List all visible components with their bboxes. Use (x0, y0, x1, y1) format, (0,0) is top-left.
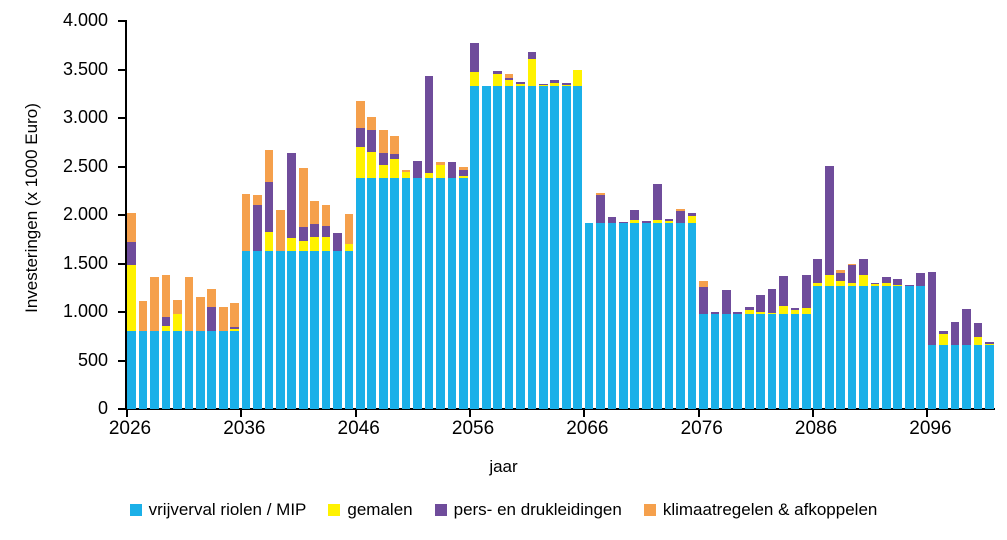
bar-2047 (367, 117, 376, 409)
bar-segment-vrijverval (207, 331, 216, 409)
bar-segment-vrijverval (550, 86, 559, 409)
x-tick-label: 2066 (566, 418, 608, 440)
bar-segment-vrijverval (196, 331, 205, 409)
bar-segment-klimaat (379, 130, 388, 153)
bar-segment-persleidingen (528, 52, 537, 59)
bar-segment-gemalen (367, 152, 376, 178)
bar-2067 (596, 193, 605, 409)
bar-segment-persleidingen (699, 287, 708, 314)
bar-2026 (127, 213, 136, 409)
bar-segment-persleidingen (299, 227, 308, 242)
bar-segment-vrijverval (322, 251, 331, 409)
bar-segment-vrijverval (596, 223, 605, 409)
bar-2042 (310, 201, 319, 409)
bar-segment-vrijverval (139, 331, 148, 409)
bar-segment-persleidingen (836, 273, 845, 281)
y-tick (118, 408, 126, 410)
chart-legend: vrijverval riolen / MIPgemalenpers- en d… (0, 500, 1007, 520)
legend-swatch-icon (644, 504, 656, 516)
bar-segment-vrijverval (756, 314, 765, 409)
bar-segment-persleidingen (322, 226, 331, 238)
bar-segment-gemalen (573, 70, 582, 86)
bar-segment-vrijverval (310, 251, 319, 409)
bar-segment-klimaat (242, 194, 251, 251)
bar-segment-persleidingen (162, 317, 171, 326)
bar-segment-vrijverval (974, 345, 983, 409)
bar-segment-vrijverval (356, 178, 365, 409)
y-tick-label: 2.500 (0, 156, 108, 177)
bar-segment-klimaat (367, 117, 376, 130)
bar-2031 (185, 277, 194, 409)
bar-segment-persleidingen (470, 43, 479, 72)
bar-2090 (859, 259, 868, 409)
legend-swatch-icon (435, 504, 447, 516)
bar-segment-vrijverval (390, 178, 399, 409)
y-tick-label: 2.000 (0, 204, 108, 225)
x-tick-label: 2076 (681, 418, 723, 440)
bar-segment-vrijverval (539, 86, 548, 409)
bar-segment-vrijverval (253, 251, 262, 409)
legend-label: vrijverval riolen / MIP (149, 500, 307, 520)
bar-segment-persleidingen (768, 289, 777, 313)
bar-segment-vrijverval (836, 286, 845, 409)
bar-segment-vrijverval (962, 345, 971, 409)
bar-segment-klimaat (173, 300, 182, 314)
bar-2033 (207, 289, 216, 409)
bar-segment-persleidingen (367, 130, 376, 152)
bar-segment-vrijverval (162, 331, 171, 409)
plot-area (126, 21, 995, 409)
bar-segment-vrijverval (745, 314, 754, 409)
bar-segment-gemalen (939, 334, 948, 345)
x-tick (355, 409, 357, 417)
bar-segment-gemalen (859, 275, 868, 286)
bar-segment-klimaat (345, 214, 354, 244)
bar-2038 (265, 150, 274, 409)
bar-2044 (333, 233, 342, 409)
bar-2093 (893, 279, 902, 409)
bar-segment-vrijverval (299, 251, 308, 409)
x-tick (583, 409, 585, 417)
legend-item-2[interactable]: pers- en drukleidingen (435, 500, 622, 520)
bar-2055 (459, 167, 468, 409)
bar-segment-persleidingen (448, 162, 457, 178)
bar-segment-vrijverval (619, 223, 628, 409)
bar-segment-persleidingen (333, 233, 342, 250)
bar-2097 (939, 331, 948, 409)
x-tick-label: 2056 (452, 418, 494, 440)
bar-segment-gemalen (493, 74, 502, 86)
bar-segment-persleidingen (379, 153, 388, 165)
bar-segment-vrijverval (493, 86, 502, 409)
bar-2099 (962, 309, 971, 409)
bar-segment-vrijverval (813, 286, 822, 409)
x-tick (812, 409, 814, 417)
bar-segment-persleidingen (596, 195, 605, 223)
bar-segment-gemalen (127, 265, 136, 331)
bar-segment-vrijverval (928, 345, 937, 409)
bar-segment-vrijverval (848, 286, 857, 409)
bar-2094 (905, 285, 914, 409)
bar-segment-vrijverval (733, 314, 742, 409)
bar-segment-vrijverval (516, 86, 525, 409)
bar-segment-vrijverval (173, 331, 182, 409)
bar-2085 (802, 275, 811, 409)
bar-segment-klimaat (265, 150, 274, 182)
bar-segment-klimaat (390, 136, 399, 153)
bar-segment-persleidingen (630, 210, 639, 220)
bar-2029 (162, 275, 171, 409)
bar-segment-vrijverval (470, 86, 479, 409)
bar-2028 (150, 277, 159, 409)
bar-2046 (356, 101, 365, 409)
bar-segment-persleidingen (848, 265, 857, 282)
legend-item-3[interactable]: klimaatregelen & afkoppelen (644, 500, 878, 520)
bar-2037 (253, 195, 262, 409)
bar-segment-persleidingen (951, 322, 960, 345)
bar-segment-klimaat (299, 168, 308, 227)
bar-segment-vrijverval (562, 86, 571, 409)
bar-2096 (928, 272, 937, 409)
bar-segment-vrijverval (676, 223, 685, 409)
bar-segment-vrijverval (916, 286, 925, 409)
bar-segment-klimaat (322, 205, 331, 225)
bar-segment-vrijverval (573, 86, 582, 409)
x-tick (126, 409, 128, 417)
bar-segment-persleidingen (425, 76, 434, 173)
y-tick-label: 4.000 (0, 10, 108, 31)
legend-label: pers- en drukleidingen (454, 500, 622, 520)
bar-segment-persleidingen (310, 224, 319, 238)
bar-2095 (916, 273, 925, 409)
bar-2075 (688, 213, 697, 409)
bar-2087 (825, 166, 834, 409)
bar-2032 (196, 297, 205, 409)
bar-2079 (733, 312, 742, 409)
bar-2043 (322, 205, 331, 409)
bar-segment-persleidingen (802, 275, 811, 308)
bar-segment-persleidingen (207, 307, 216, 331)
bar-segment-persleidingen (253, 205, 262, 251)
bar-segment-vrijverval (893, 286, 902, 409)
bar-2069 (619, 222, 628, 409)
bar-segment-gemalen (688, 216, 697, 223)
bar-segment-klimaat (196, 297, 205, 331)
bar-segment-vrijverval (722, 314, 731, 409)
bar-segment-klimaat (150, 277, 159, 331)
bar-segment-vrijverval (150, 331, 159, 409)
bar-segment-vrijverval (985, 345, 994, 409)
bar-group (126, 21, 995, 409)
bar-2098 (951, 322, 960, 409)
bar-2070 (630, 210, 639, 409)
bar-segment-vrijverval (711, 314, 720, 409)
bar-segment-klimaat (139, 301, 148, 331)
bar-2083 (779, 276, 788, 409)
y-tick-label: 500 (0, 350, 108, 371)
bar-segment-klimaat (162, 275, 171, 317)
bar-2056 (470, 43, 479, 409)
y-tick-label: 1.500 (0, 253, 108, 274)
bar-2059 (505, 74, 514, 409)
bar-2052 (425, 76, 434, 409)
y-tick-label: 3.500 (0, 59, 108, 80)
bar-segment-persleidingen (962, 309, 971, 345)
y-tick-label: 3.000 (0, 107, 108, 128)
x-axis-title: jaar (0, 457, 1007, 477)
bar-2030 (173, 300, 182, 409)
bar-2076 (699, 281, 708, 409)
bar-segment-vrijverval (230, 331, 239, 409)
y-tick (118, 69, 126, 71)
bar-2049 (390, 136, 399, 409)
bar-segment-persleidingen (928, 272, 937, 345)
bar-segment-gemalen (974, 337, 983, 345)
bar-segment-vrijverval (127, 331, 136, 409)
x-tick-label: 2046 (338, 418, 380, 440)
bar-2100 (974, 323, 983, 409)
bar-2035 (230, 303, 239, 409)
bar-2091 (871, 283, 880, 409)
bar-segment-persleidingen (676, 211, 685, 223)
y-tick (118, 20, 126, 22)
bar-segment-vrijverval (779, 314, 788, 409)
bar-segment-gemalen (436, 165, 445, 179)
bar-2061 (528, 52, 537, 409)
bar-2072 (653, 184, 662, 409)
bar-segment-vrijverval (585, 223, 594, 409)
bar-segment-vrijverval (402, 178, 411, 409)
bar-segment-gemalen (299, 241, 308, 251)
bar-segment-vrijverval (287, 251, 296, 409)
x-tick-label: 2026 (109, 418, 151, 440)
bar-segment-vrijverval (436, 178, 445, 409)
bar-segment-persleidingen (916, 273, 925, 286)
bar-segment-vrijverval (859, 286, 868, 409)
chart-root: Investeringen (x 1000 Euro) 05001.0001.5… (0, 0, 1007, 540)
bar-segment-vrijverval (825, 286, 834, 409)
bar-2034 (219, 307, 228, 409)
bar-2063 (550, 80, 559, 409)
bar-segment-persleidingen (756, 295, 765, 312)
bar-segment-vrijverval (630, 223, 639, 409)
bar-segment-vrijverval (345, 251, 354, 409)
bar-segment-vrijverval (367, 178, 376, 409)
legend-label: gemalen (347, 500, 412, 520)
bar-segment-gemalen (173, 314, 182, 331)
bar-segment-vrijverval (791, 314, 800, 409)
bar-segment-vrijverval (219, 331, 228, 409)
bar-segment-vrijverval (939, 345, 948, 409)
bar-2066 (585, 223, 594, 409)
legend-item-1[interactable]: gemalen (328, 500, 412, 520)
legend-item-0[interactable]: vrijverval riolen / MIP (130, 500, 307, 520)
bar-segment-klimaat (356, 101, 365, 128)
bar-segment-persleidingen (779, 276, 788, 306)
bar-2062 (539, 84, 548, 409)
bar-segment-vrijverval (665, 223, 674, 409)
bar-2054 (448, 162, 457, 409)
bar-segment-vrijverval (185, 331, 194, 409)
bar-2027 (139, 301, 148, 409)
bar-segment-vrijverval (413, 178, 422, 409)
bar-segment-vrijverval (448, 178, 457, 409)
bar-segment-klimaat (127, 213, 136, 242)
y-tick-label: 1.000 (0, 301, 108, 322)
bar-segment-klimaat (310, 201, 319, 223)
bar-2078 (722, 290, 731, 409)
x-tick (469, 409, 471, 417)
bar-segment-vrijverval (802, 314, 811, 409)
bar-segment-gemalen (345, 244, 354, 251)
bar-segment-klimaat (253, 195, 262, 206)
bar-segment-vrijverval (653, 223, 662, 409)
bar-segment-gemalen (379, 165, 388, 179)
legend-label: klimaatregelen & afkoppelen (663, 500, 878, 520)
bar-segment-persleidingen (356, 128, 365, 147)
bar-segment-vrijverval (265, 251, 274, 409)
bar-segment-persleidingen (287, 153, 296, 238)
y-tick (118, 117, 126, 119)
y-tick (118, 311, 126, 313)
bar-2080 (745, 307, 754, 409)
legend-swatch-icon (328, 504, 340, 516)
bar-2086 (813, 259, 822, 409)
bar-segment-vrijverval (642, 223, 651, 409)
bar-segment-klimaat (185, 277, 194, 331)
bar-segment-vrijverval (951, 345, 960, 409)
y-tick (118, 360, 126, 362)
bar-2036 (242, 194, 251, 409)
bar-segment-persleidingen (859, 259, 868, 275)
bar-segment-persleidingen (722, 290, 731, 314)
x-tick (698, 409, 700, 417)
bar-segment-gemalen (265, 232, 274, 250)
x-tick-label: 2096 (909, 418, 951, 440)
bar-segment-gemalen (779, 306, 788, 314)
bar-2058 (493, 70, 502, 409)
bar-segment-vrijverval (688, 223, 697, 409)
x-tick (240, 409, 242, 417)
bar-2041 (299, 167, 308, 409)
bar-2040 (287, 153, 296, 409)
x-tick-label: 2086 (795, 418, 837, 440)
bar-segment-persleidingen (413, 161, 422, 178)
bar-segment-vrijverval (505, 86, 514, 409)
bar-2084 (791, 308, 800, 409)
y-tick (118, 263, 126, 265)
bar-segment-persleidingen (653, 184, 662, 220)
bar-2050 (402, 170, 411, 409)
bar-2064 (562, 83, 571, 409)
bar-segment-vrijverval (425, 178, 434, 409)
bar-segment-persleidingen (127, 242, 136, 265)
bar-2081 (756, 295, 765, 409)
bar-2057 (482, 86, 491, 409)
bar-segment-gemalen (528, 59, 537, 86)
bar-2092 (882, 277, 891, 409)
bar-2089 (848, 264, 857, 409)
bar-segment-vrijverval (871, 286, 880, 409)
bar-segment-gemalen (322, 237, 331, 251)
bar-segment-gemalen (310, 237, 319, 251)
y-tick (118, 166, 126, 168)
bar-segment-persleidingen (825, 166, 834, 276)
bar-segment-vrijverval (242, 251, 251, 409)
bar-segment-persleidingen (974, 323, 983, 338)
bar-segment-gemalen (390, 159, 399, 178)
bar-segment-vrijverval (333, 251, 342, 409)
bar-segment-vrijverval (379, 178, 388, 409)
bar-segment-gemalen (287, 238, 296, 251)
bar-2060 (516, 82, 525, 409)
bar-2071 (642, 221, 651, 409)
bar-segment-vrijverval (608, 223, 617, 409)
x-tick (926, 409, 928, 417)
bar-segment-persleidingen (265, 182, 274, 232)
bar-segment-vrijverval (482, 86, 491, 409)
bar-segment-vrijverval (459, 178, 468, 409)
bar-2082 (768, 289, 777, 409)
bar-2051 (413, 161, 422, 409)
bar-segment-vrijverval (768, 314, 777, 409)
bar-segment-vrijverval (882, 286, 891, 409)
bar-segment-vrijverval (905, 286, 914, 409)
bar-segment-vrijverval (699, 314, 708, 409)
bar-2074 (676, 209, 685, 409)
bar-segment-klimaat (219, 307, 228, 331)
y-tick-label: 0 (0, 398, 108, 419)
bar-2045 (345, 214, 354, 409)
bar-2039 (276, 210, 285, 409)
bar-segment-gemalen (356, 147, 365, 178)
y-tick (118, 214, 126, 216)
bar-2048 (379, 130, 388, 409)
bar-segment-vrijverval (276, 251, 285, 409)
bar-segment-gemalen (470, 72, 479, 86)
bar-segment-gemalen (825, 275, 834, 286)
bar-segment-vrijverval (528, 86, 537, 409)
bar-2077 (711, 312, 720, 409)
legend-swatch-icon (130, 504, 142, 516)
bar-segment-klimaat (230, 303, 239, 326)
bar-2073 (665, 219, 674, 409)
x-tick-label: 2036 (223, 418, 265, 440)
bar-2053 (436, 162, 445, 409)
bar-segment-klimaat (207, 289, 216, 307)
bar-2101 (985, 342, 994, 409)
bar-segment-klimaat (276, 210, 285, 251)
bar-2068 (608, 217, 617, 409)
bar-segment-persleidingen (813, 259, 822, 283)
bar-2088 (836, 270, 845, 409)
bar-2065 (573, 70, 582, 410)
